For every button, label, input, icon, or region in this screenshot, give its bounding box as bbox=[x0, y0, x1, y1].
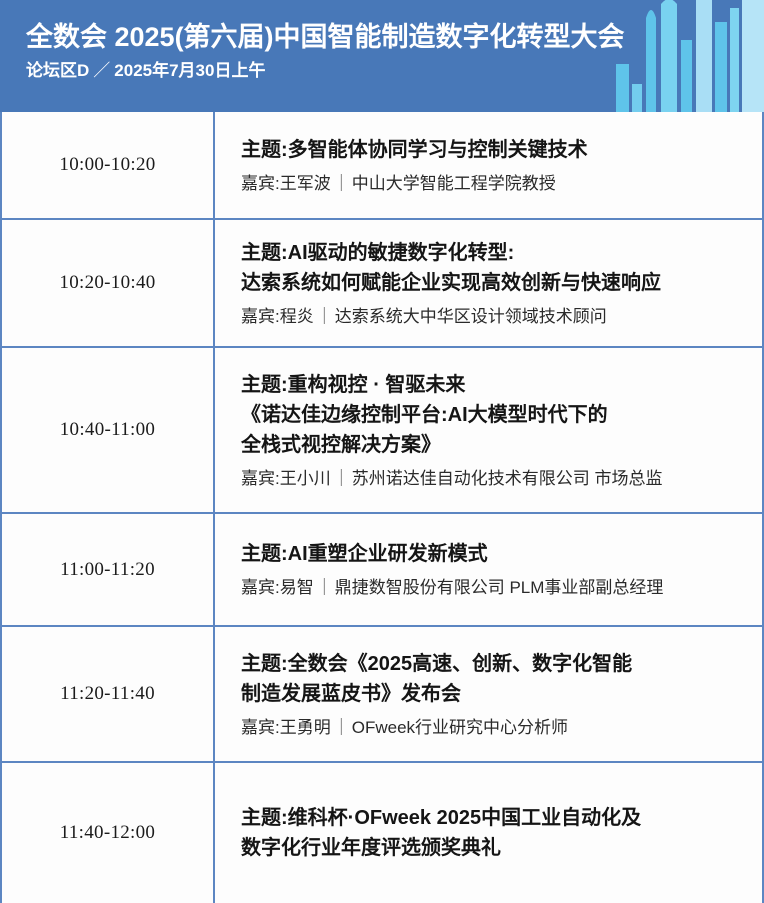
guest-name: 嘉宾:王勇明 bbox=[241, 718, 331, 737]
forum-zone-label: 论坛区D bbox=[26, 61, 89, 80]
guest-name: 嘉宾:易智 bbox=[241, 578, 314, 597]
guest-affiliation: OFweek行业研究中心分析师 bbox=[352, 718, 568, 737]
table-row[interactable]: 11:40-12:00主题:维科杯·OFweek 2025中国工业自动化及数字化… bbox=[1, 762, 763, 903]
session-title-line: 主题:AI重塑企业研发新模式 bbox=[241, 539, 748, 569]
session-guest-line: 嘉宾:程炎｜达索系统大中华区设计领域技术顾问 bbox=[241, 305, 748, 329]
guest-separator: ｜ bbox=[314, 305, 335, 329]
session-title-line: 主题:全数会《2025高速、创新、数字化智能 bbox=[241, 649, 748, 679]
guest-affiliation: 达索系统大中华区设计领域技术顾问 bbox=[335, 307, 607, 326]
session-time-cell: 10:20-10:40 bbox=[1, 219, 214, 347]
session-time-cell: 11:00-11:20 bbox=[1, 513, 214, 626]
session-title-line: 全栈式视控解决方案》 bbox=[241, 430, 748, 460]
skyline-icon bbox=[614, 0, 764, 112]
guest-name: 嘉宾:程炎 bbox=[241, 307, 314, 326]
guest-separator: ｜ bbox=[314, 576, 335, 600]
session-detail-cell: 主题:重构视控 · 智驱未来《诺达佳边缘控制平台:AI大模型时代下的全栈式视控解… bbox=[214, 347, 763, 513]
session-title-line: 主题:AI驱动的敏捷数字化转型: bbox=[241, 238, 748, 268]
guest-affiliation: 中山大学智能工程学院教授 bbox=[352, 174, 556, 193]
table-row[interactable]: 10:40-11:00主题:重构视控 · 智驱未来《诺达佳边缘控制平台:AI大模… bbox=[1, 347, 763, 513]
session-detail-cell: 主题:全数会《2025高速、创新、数字化智能制造发展蓝皮书》发布会嘉宾:王勇明｜… bbox=[214, 626, 763, 762]
schedule-page: 全数会 2025(第六届)中国智能制造数字化转型大会 论坛区D／2025年7月3… bbox=[0, 0, 764, 903]
session-detail-cell: 主题:多智能体协同学习与控制关键技术嘉宾:王军波｜中山大学智能工程学院教授 bbox=[214, 112, 763, 219]
schedule-table-body: 10:00-10:20主题:多智能体协同学习与控制关键技术嘉宾:王军波｜中山大学… bbox=[1, 112, 763, 903]
header-text-block: 全数会 2025(第六届)中国智能制造数字化转型大会 论坛区D／2025年7月3… bbox=[26, 20, 625, 82]
event-header: 全数会 2025(第六届)中国智能制造数字化转型大会 论坛区D／2025年7月3… bbox=[0, 0, 764, 112]
session-time-cell: 11:40-12:00 bbox=[1, 762, 214, 903]
subtitle-separator: ／ bbox=[89, 60, 114, 82]
session-detail-cell: 主题:维科杯·OFweek 2025中国工业自动化及数字化行业年度评选颁奖典礼 bbox=[214, 762, 763, 903]
session-time-cell: 10:40-11:00 bbox=[1, 347, 214, 513]
guest-name: 嘉宾:王军波 bbox=[241, 174, 331, 193]
guest-separator: ｜ bbox=[331, 172, 352, 196]
session-title-line: 主题:重构视控 · 智驱未来 bbox=[241, 370, 748, 400]
guest-name: 嘉宾:王小川 bbox=[241, 469, 331, 488]
table-row[interactable]: 10:00-10:20主题:多智能体协同学习与控制关键技术嘉宾:王军波｜中山大学… bbox=[1, 112, 763, 219]
session-guest-line: 嘉宾:易智｜鼎捷数智股份有限公司 PLM事业部副总经理 bbox=[241, 576, 748, 600]
guest-separator: ｜ bbox=[331, 467, 352, 491]
session-title-line: 主题:多智能体协同学习与控制关键技术 bbox=[241, 135, 748, 165]
session-title-line: 制造发展蓝皮书》发布会 bbox=[241, 679, 748, 709]
session-guest-line: 嘉宾:王小川｜苏州诺达佳自动化技术有限公司 市场总监 bbox=[241, 467, 748, 491]
session-title-line: 《诺达佳边缘控制平台:AI大模型时代下的 bbox=[241, 400, 748, 430]
page-title: 全数会 2025(第六届)中国智能制造数字化转型大会 bbox=[26, 20, 625, 54]
session-guest-line: 嘉宾:王勇明｜OFweek行业研究中心分析师 bbox=[241, 716, 748, 740]
session-time-cell: 10:00-10:20 bbox=[1, 112, 214, 219]
session-detail-cell: 主题:AI重塑企业研发新模式嘉宾:易智｜鼎捷数智股份有限公司 PLM事业部副总经… bbox=[214, 513, 763, 626]
table-row[interactable]: 10:20-10:40主题:AI驱动的敏捷数字化转型:达索系统如何赋能企业实现高… bbox=[1, 219, 763, 347]
session-detail-cell: 主题:AI驱动的敏捷数字化转型:达索系统如何赋能企业实现高效创新与快速响应嘉宾:… bbox=[214, 219, 763, 347]
table-row[interactable]: 11:00-11:20主题:AI重塑企业研发新模式嘉宾:易智｜鼎捷数智股份有限公… bbox=[1, 513, 763, 626]
session-title-line: 数字化行业年度评选颁奖典礼 bbox=[241, 833, 748, 863]
guest-affiliation: 鼎捷数智股份有限公司 PLM事业部副总经理 bbox=[335, 578, 664, 597]
session-guest-line: 嘉宾:王军波｜中山大学智能工程学院教授 bbox=[241, 172, 748, 196]
session-time-cell: 11:20-11:40 bbox=[1, 626, 214, 762]
guest-separator: ｜ bbox=[331, 716, 352, 740]
guest-affiliation: 苏州诺达佳自动化技术有限公司 市场总监 bbox=[352, 469, 663, 488]
session-title-line: 主题:维科杯·OFweek 2025中国工业自动化及 bbox=[241, 803, 748, 833]
city-skyline-decoration bbox=[614, 0, 764, 112]
header-subtitle: 论坛区D／2025年7月30日上午 bbox=[26, 60, 625, 82]
schedule-table: 10:00-10:20主题:多智能体协同学习与控制关键技术嘉宾:王军波｜中山大学… bbox=[0, 112, 764, 903]
event-date-label: 2025年7月30日上午 bbox=[114, 61, 265, 80]
session-title-line: 达索系统如何赋能企业实现高效创新与快速响应 bbox=[241, 268, 748, 298]
table-row[interactable]: 11:20-11:40主题:全数会《2025高速、创新、数字化智能制造发展蓝皮书… bbox=[1, 626, 763, 762]
